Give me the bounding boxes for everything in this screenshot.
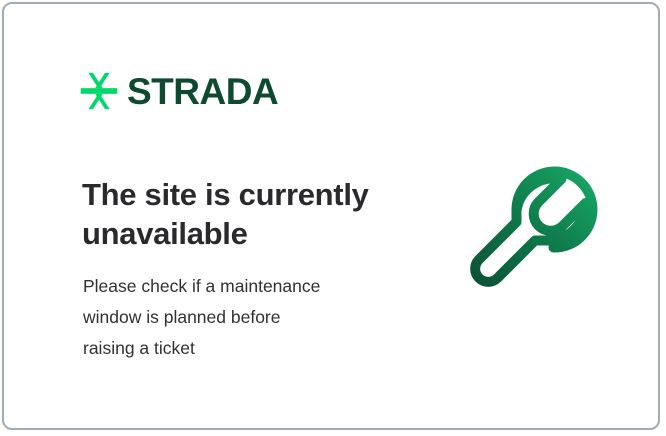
status-card: STRADA The site is currently unavailable… bbox=[2, 2, 660, 430]
wrench-icon bbox=[459, 156, 617, 312]
status-message-line: Please check if a maintenance bbox=[83, 271, 393, 302]
brand-wordmark: STRADA bbox=[127, 73, 278, 110]
page-title: The site is currently unavailable bbox=[82, 175, 412, 253]
strada-asterisk-icon bbox=[80, 72, 118, 110]
brand-logo: STRADA bbox=[80, 72, 278, 110]
status-message: Please check if a maintenance window is … bbox=[83, 271, 393, 364]
status-message-line: window is planned before bbox=[83, 302, 393, 333]
status-message-line: raising a ticket bbox=[83, 333, 393, 364]
